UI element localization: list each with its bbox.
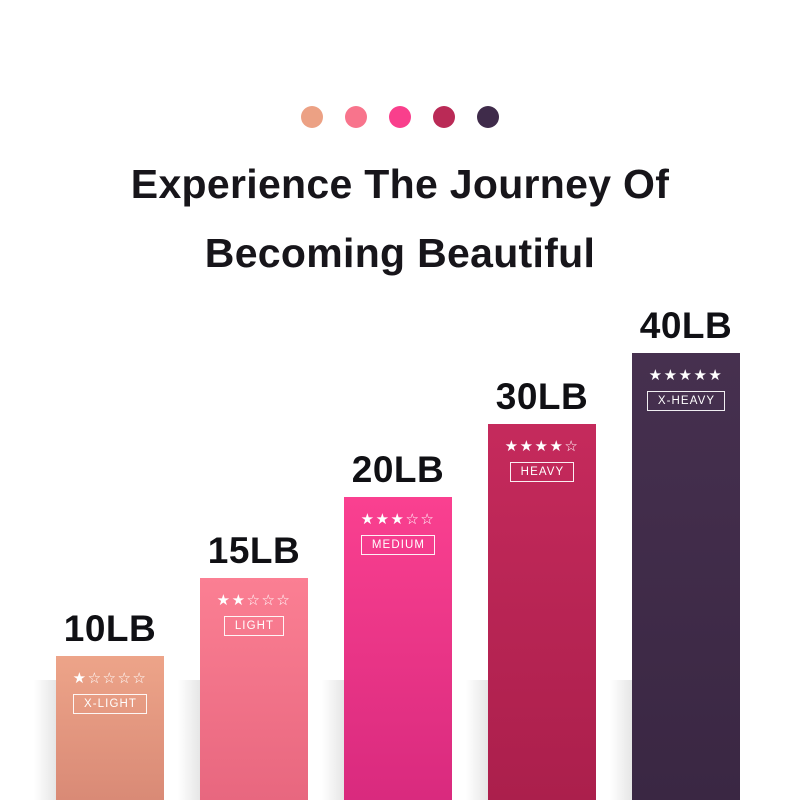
star-rating: ★☆☆☆☆	[56, 670, 164, 686]
resistance-badge: LIGHT	[224, 616, 284, 636]
bar-group-20lb[interactable]: 20LB★★★☆☆MEDIUM	[344, 441, 452, 800]
star-rating: ★★★☆☆	[344, 511, 452, 527]
bar-shadow	[34, 680, 56, 800]
bar-shadow	[466, 680, 488, 800]
infographic-canvas: Experience The Journey Of Becoming Beaut…	[0, 0, 800, 800]
star-rating: ★★★★★	[632, 367, 740, 383]
bar-value-label: 40LB	[632, 305, 740, 347]
resistance-badge: HEAVY	[510, 462, 575, 482]
bar-shadow	[322, 680, 344, 800]
bar-value-label: 20LB	[344, 449, 452, 491]
bar-10lb[interactable]: ★☆☆☆☆X-LIGHT	[56, 656, 164, 800]
bar-shadow	[610, 680, 632, 800]
star-rating: ★★☆☆☆	[200, 592, 308, 608]
bar-group-15lb[interactable]: 15LB★★☆☆☆LIGHT	[200, 522, 308, 800]
bar-group-30lb[interactable]: 30LB★★★★☆HEAVY	[488, 368, 596, 800]
bar-shadow	[178, 680, 200, 800]
bar-group-40lb[interactable]: 40LB★★★★★X-HEAVY	[632, 297, 740, 800]
bar-30lb[interactable]: ★★★★☆HEAVY	[488, 424, 596, 800]
star-rating: ★★★★☆	[488, 438, 596, 454]
resistance-badge: X-HEAVY	[647, 391, 725, 411]
bar-value-label: 10LB	[56, 608, 164, 650]
bar-value-label: 30LB	[488, 376, 596, 418]
bar-40lb[interactable]: ★★★★★X-HEAVY	[632, 353, 740, 800]
bar-group-10lb[interactable]: 10LB★☆☆☆☆X-LIGHT	[56, 600, 164, 800]
bar-20lb[interactable]: ★★★☆☆MEDIUM	[344, 497, 452, 800]
resistance-badge: X-LIGHT	[73, 694, 147, 714]
resistance-band-bar-chart: 10LB★☆☆☆☆X-LIGHT15LB★★☆☆☆LIGHT20LB★★★☆☆M…	[0, 0, 800, 800]
bar-15lb[interactable]: ★★☆☆☆LIGHT	[200, 578, 308, 800]
resistance-badge: MEDIUM	[361, 535, 435, 555]
bar-value-label: 15LB	[200, 530, 308, 572]
